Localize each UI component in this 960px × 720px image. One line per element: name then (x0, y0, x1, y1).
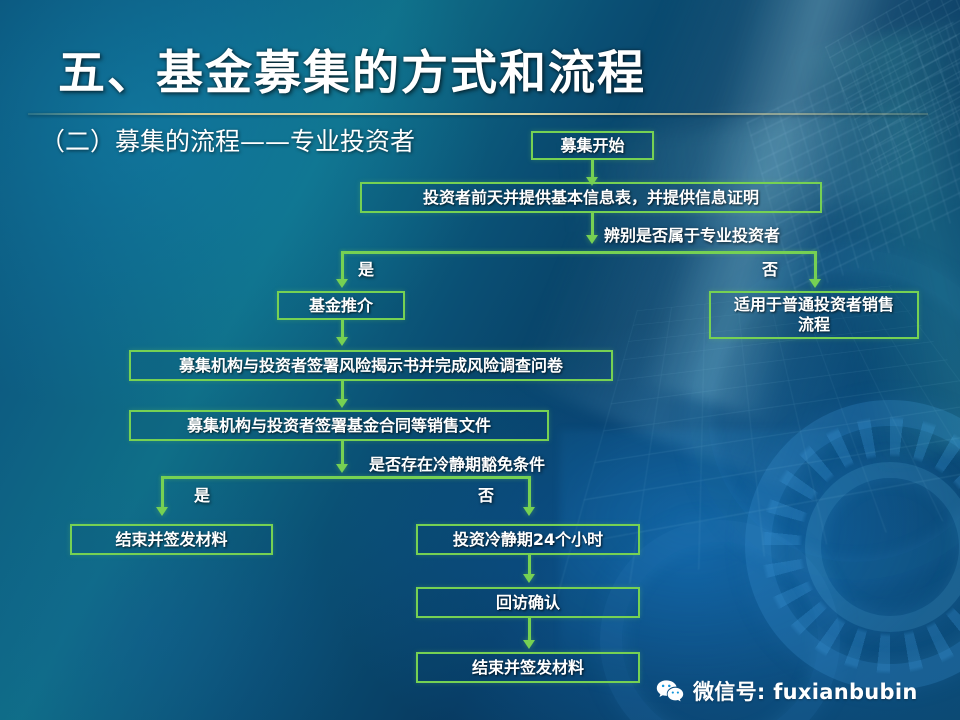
node-cooling-period: 投资冷静期24个小时 (416, 524, 640, 555)
decision-cooling-no: 否 (478, 482, 494, 506)
connector-decision1-split (341, 251, 817, 254)
node-start: 募集开始 (531, 131, 654, 160)
flowchart: 募集开始 投资者前天并提供基本信息表，并提供信息证明 辨别是否属于专业投资者 是… (0, 0, 960, 720)
decision-cooling-yes: 是 (194, 482, 210, 506)
node-callback-confirm: 回访确认 (416, 587, 640, 618)
node-ordinary-investor-process: 适用于普通投资者销售 流程 (709, 291, 919, 339)
connector-decision2-split (161, 476, 531, 479)
decision-professional-label: 辨别是否属于专业投资者 (604, 222, 780, 246)
arrow-fundpromo-to-riskdoc (336, 337, 348, 346)
arrow-decision1-yes (336, 279, 348, 288)
watermark-text: 微信号: fuxianbubin (693, 676, 918, 706)
arrow-callback-to-end (523, 640, 535, 649)
wechat-icon (656, 679, 684, 704)
arrow-decision2-no (523, 507, 535, 516)
arrow-riskdoc-to-contract (336, 399, 348, 408)
arrow-decision2-yes (156, 507, 168, 516)
node-sales-documents: 募集机构与投资者签署基金合同等销售文件 (129, 410, 549, 441)
decision-professional-yes: 是 (358, 256, 374, 280)
node-fund-promotion: 基金推介 (277, 291, 405, 320)
arrow-decision1-no (809, 279, 821, 288)
watermark: 微信号: fuxianbubin (656, 676, 918, 706)
slide-canvas: 五、基金募集的方式和流程 （二）募集的流程——专业投资者 募集开始 投资者前天并… (0, 0, 960, 720)
decision-cooling-label: 是否存在冷静期豁免条件 (369, 451, 545, 475)
node-risk-disclosure: 募集机构与投资者签署风险揭示书并完成风险调查问卷 (129, 350, 613, 381)
arrow-basicinfo-to-decision1 (586, 235, 598, 244)
arrow-cooling-to-callback (523, 574, 535, 583)
node-basic-info: 投资者前天并提供基本信息表，并提供信息证明 (360, 182, 822, 213)
arrow-contract-to-decision2 (336, 464, 348, 473)
node-end-issue-materials-bottom: 结束并签发材料 (416, 652, 640, 683)
connector-decision2-no-down (528, 476, 531, 511)
connector-decision2-yes-down (161, 476, 164, 511)
node-end-issue-materials-left: 结束并签发材料 (70, 524, 273, 555)
decision-professional-no: 否 (762, 256, 778, 280)
